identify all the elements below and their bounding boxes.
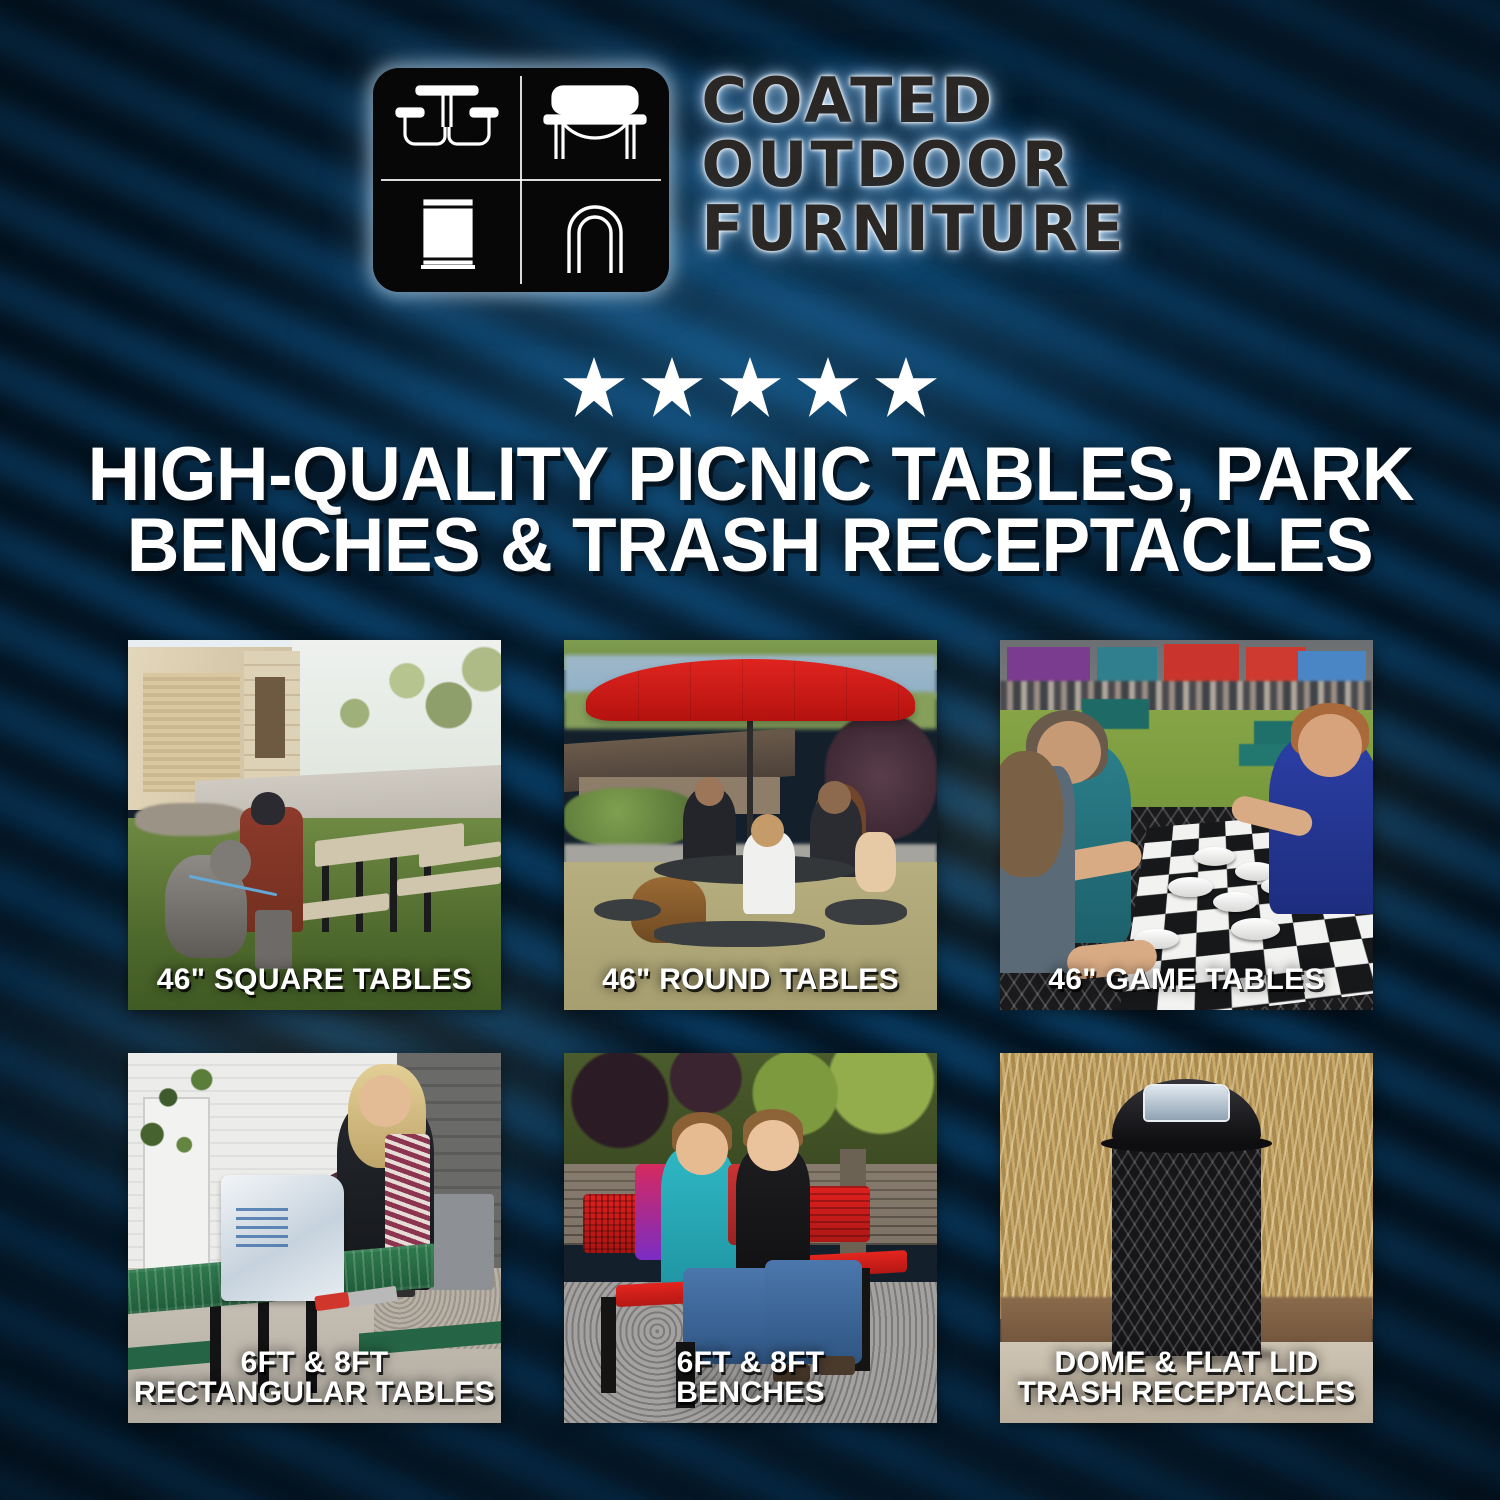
star-icon: [797, 357, 859, 417]
square-tables-photo: [128, 640, 501, 1010]
logo-mark: [373, 68, 669, 292]
product-grid: 46" SQUARE TABLES: [128, 640, 1373, 1423]
star-icon: [719, 357, 781, 417]
brand-line-2: OUTDOOR: [701, 134, 1126, 196]
caption-line-1: 6FT & 8FT: [241, 1346, 389, 1379]
caption-line-1: 46" ROUND TABLES: [602, 963, 899, 996]
tile-caption: 46" ROUND TABLES: [570, 965, 931, 996]
game-tables-photo: [1000, 640, 1373, 1010]
product-tile-rectangular-tables[interactable]: 6FT & 8FT RECTANGULAR TABLES: [128, 1053, 501, 1423]
headline-line-1: HIGH-QUALITY PICNIC TABLES, PARK: [88, 440, 1413, 511]
tile-caption: DOME & FLAT LID TRASH RECEPTACLES: [1006, 1348, 1367, 1409]
page-title: HIGH-QUALITY PICNIC TABLES, PARK BENCHES…: [88, 440, 1413, 581]
brand-line-1: COATED: [701, 70, 1126, 132]
bike-rack-icon: [521, 180, 669, 292]
tile-caption: 6FT & 8FT RECTANGULAR TABLES: [134, 1348, 495, 1409]
brand-line-3: FURNITURE: [701, 198, 1126, 260]
product-tile-round-tables[interactable]: 46" ROUND TABLES: [564, 640, 937, 1010]
product-tile-trash-receptacles[interactable]: DOME & FLAT LID TRASH RECEPTACLES: [1000, 1053, 1373, 1423]
tile-caption: 6FT & 8FT BENCHES: [570, 1348, 931, 1409]
product-tile-game-tables[interactable]: 46" GAME TABLES: [1000, 640, 1373, 1010]
caption-line-1: 46" SQUARE TABLES: [157, 963, 473, 996]
product-tile-square-tables[interactable]: 46" SQUARE TABLES: [128, 640, 501, 1010]
tile-caption: 46" SQUARE TABLES: [134, 965, 495, 996]
star-rating: [0, 357, 1500, 417]
caption-line-1: 6FT & 8FT: [677, 1346, 825, 1379]
caption-line-2: TRASH RECEPTACLES: [1006, 1378, 1367, 1409]
caption-line-2: RECTANGULAR TABLES: [134, 1378, 495, 1409]
star-icon: [563, 357, 625, 417]
picnic-table-icon: [373, 68, 521, 180]
bench-icon: [521, 68, 669, 180]
round-tables-photo: [564, 640, 937, 1010]
trash-receptacle-icon: [373, 180, 521, 292]
product-tile-benches[interactable]: 6FT & 8FT BENCHES: [564, 1053, 937, 1423]
caption-line-1: 46" GAME TABLES: [1048, 963, 1325, 996]
star-icon: [641, 357, 703, 417]
star-icon: [875, 357, 937, 417]
poster: COATED OUTDOOR FURNITURE HIGH-QUALITY PI…: [0, 0, 1500, 1500]
brand-wordmark: COATED OUTDOOR FURNITURE: [701, 68, 1126, 260]
caption-line-1: DOME & FLAT LID: [1055, 1346, 1319, 1379]
caption-line-2: BENCHES: [570, 1378, 931, 1409]
tile-caption: 46" GAME TABLES: [1006, 965, 1367, 996]
headline-line-2: BENCHES & TRASH RECEPTACLES: [88, 511, 1413, 582]
logo-lockup: COATED OUTDOOR FURNITURE: [0, 68, 1500, 292]
